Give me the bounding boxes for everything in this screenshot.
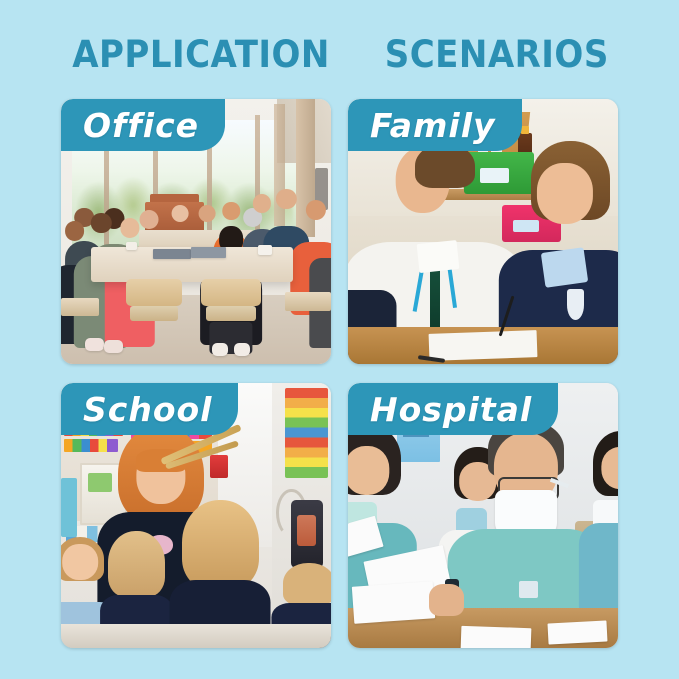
hospital-doctor-hand (429, 584, 464, 616)
family-boy-head (537, 163, 593, 223)
office-bench-left (61, 298, 99, 317)
card-label-tab-school: School (61, 383, 238, 435)
office-shoe-3 (85, 338, 104, 351)
school-red-cup (210, 455, 229, 479)
hospital-document-stack (352, 582, 435, 625)
scenario-card-office[interactable]: Office (61, 99, 331, 364)
card-label-tab-office: Office (61, 99, 225, 151)
card-label-school: School (83, 390, 212, 429)
hospital-staff-right (586, 431, 618, 595)
scenario-card-school[interactable]: School (61, 383, 331, 648)
card-label-tab-family: Family (348, 99, 522, 151)
office-table-document-1 (153, 249, 191, 260)
school-board-left (61, 478, 77, 536)
card-label-hospital: Hospital (370, 390, 532, 429)
page-title: APPLICATIONSCENARIOS (0, 33, 679, 76)
school-child1-head (62, 544, 98, 581)
family-boy-collar (541, 247, 589, 287)
scenario-card-hospital[interactable]: Hospital (348, 383, 618, 648)
office-shoe-1 (212, 343, 228, 356)
family-man-tie (430, 262, 441, 332)
hospital-doctor-main (467, 420, 586, 637)
hospital-document-right (547, 620, 607, 644)
school-child4-hair (283, 563, 331, 605)
office-table-cup-1 (126, 242, 137, 250)
office-bench-right (285, 292, 331, 311)
application-scenarios-poster: APPLICATIONSCENARIOS (0, 0, 679, 679)
school-supply-rack (285, 388, 328, 478)
school-child2-hair (108, 531, 165, 597)
school-table (61, 624, 331, 648)
card-label-tab-hospital: Hospital (348, 383, 558, 435)
scenario-card-family[interactable]: Family (348, 99, 618, 364)
office-chair-right (201, 279, 260, 306)
hospital-staff-right-scrubs (579, 523, 618, 612)
page-title-word-2: SCENARIOS (384, 33, 608, 76)
office-table-document-2 (191, 247, 226, 258)
office-shoe-4 (104, 340, 123, 353)
family-man-collar (416, 240, 459, 273)
family-worksheet (429, 330, 538, 360)
office-table-cup-2 (258, 245, 272, 256)
school-hanging-bag (291, 500, 323, 569)
card-label-office: Office (83, 106, 199, 145)
hospital-document-table (461, 626, 532, 648)
office-chair-left (126, 279, 183, 306)
office-shoe-2 (234, 343, 250, 356)
page-title-word-1: APPLICATION (72, 33, 330, 76)
card-label-family: Family (370, 106, 496, 145)
hospital-staff-left-head (348, 446, 390, 495)
school-child3-hair (182, 500, 259, 589)
hospital-doctor-badge (519, 581, 538, 598)
